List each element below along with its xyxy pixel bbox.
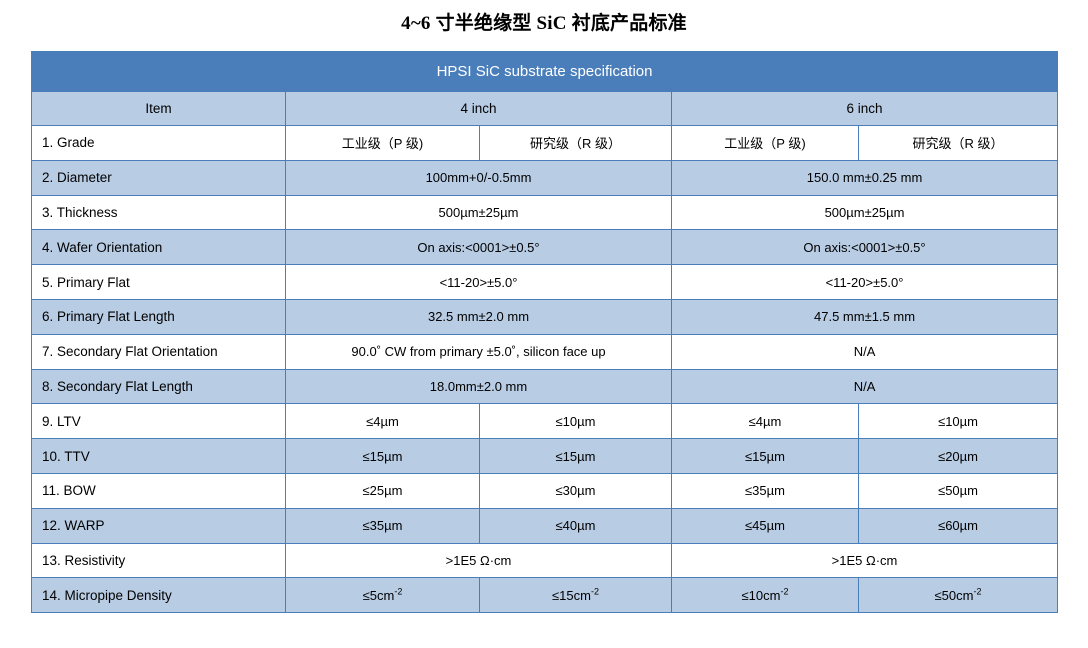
row-value-4-inch: >1E5 Ω·cm [286, 543, 672, 578]
unit-exponent: -2 [394, 586, 402, 596]
table-banner-title: HPSI SiC substrate specification [32, 52, 1058, 92]
row-value-4-inch: 32.5 mm±2.0 mm [286, 299, 672, 334]
column-header-item: Item [32, 92, 286, 126]
row-value-4-inch: 18.0mm±2.0 mm [286, 369, 672, 404]
row-value-4-inch-r-grade: ≤15cm-2 [480, 578, 672, 613]
row-value-4-inch: 500µm±25µm [286, 195, 672, 230]
table-row: 4. Wafer OrientationOn axis:<0001>±0.5°O… [32, 230, 1058, 265]
row-value-6-inch-r-grade: ≤50µm [859, 473, 1058, 508]
row-item-label: 9. LTV [32, 404, 286, 439]
row-value-4-inch-p-grade: 工业级（P 级) [286, 126, 480, 161]
row-value-4-inch-p-grade: ≤25µm [286, 473, 480, 508]
row-value-4-inch-r-grade: ≤15µm [480, 439, 672, 474]
row-value-6-inch-r-grade: ≤60µm [859, 508, 1058, 543]
table-row: 8. Secondary Flat Length18.0mm±2.0 mmN/A [32, 369, 1058, 404]
column-header-row: Item 4 inch 6 inch [32, 92, 1058, 126]
page-title: 4~6 寸半绝缘型 SiC 衬底产品标准 [0, 8, 1088, 35]
row-value-6-inch-p-grade: ≤10cm-2 [672, 578, 859, 613]
row-value-4-inch-r-grade: ≤40µm [480, 508, 672, 543]
row-item-label: 1. Grade [32, 126, 286, 161]
table-row: 12. WARP≤35µm≤40µm≤45µm≤60µm [32, 508, 1058, 543]
row-value-6-inch-r-grade: ≤10µm [859, 404, 1058, 439]
table-row: 1. Grade工业级（P 级)研究级（R 级）工业级（P 级)研究级（R 级） [32, 126, 1058, 161]
row-value-4-inch: 90.0˚ CW from primary ±5.0˚, silicon fac… [286, 334, 672, 369]
row-value-6-inch: On axis:<0001>±0.5° [672, 230, 1058, 265]
unit-exponent: -2 [780, 586, 788, 596]
row-item-label: 12. WARP [32, 508, 286, 543]
row-value-6-inch-p-grade: 工业级（P 级) [672, 126, 859, 161]
row-value-4-inch-p-grade: ≤15µm [286, 439, 480, 474]
column-header-6-inch: 6 inch [672, 92, 1058, 126]
spec-table-head: HPSI SiC substrate specification Item 4 … [32, 52, 1058, 126]
table-row: 13. Resistivity>1E5 Ω·cm>1E5 Ω·cm [32, 543, 1058, 578]
table-row: 2. Diameter100mm+0/-0.5mm150.0 mm±0.25 m… [32, 160, 1058, 195]
table-row: 7. Secondary Flat Orientation90.0˚ CW fr… [32, 334, 1058, 369]
row-value-6-inch: <11-20>±5.0° [672, 265, 1058, 300]
row-value-6-inch-p-grade: ≤4µm [672, 404, 859, 439]
row-item-label: 7. Secondary Flat Orientation [32, 334, 286, 369]
row-value-4-inch: On axis:<0001>±0.5° [286, 230, 672, 265]
row-value-4-inch-p-grade: ≤5cm-2 [286, 578, 480, 613]
row-value-4-inch-r-grade: 研究级（R 级） [480, 126, 672, 161]
table-row: 9. LTV≤4µm≤10µm≤4µm≤10µm [32, 404, 1058, 439]
table-row: 14. Micropipe Density≤5cm-2≤15cm-2≤10cm-… [32, 578, 1058, 613]
row-value-6-inch-p-grade: ≤35µm [672, 473, 859, 508]
banner-row: HPSI SiC substrate specification [32, 52, 1058, 92]
table-row: 10. TTV≤15µm≤15µm≤15µm≤20µm [32, 439, 1058, 474]
row-value-6-inch: N/A [672, 334, 1058, 369]
row-item-label: 13. Resistivity [32, 543, 286, 578]
row-value-6-inch: 500µm±25µm [672, 195, 1058, 230]
row-value-6-inch-r-grade: ≤20µm [859, 439, 1058, 474]
unit-exponent: -2 [591, 586, 599, 596]
table-row: 6. Primary Flat Length32.5 mm±2.0 mm47.5… [32, 299, 1058, 334]
row-item-label: 4. Wafer Orientation [32, 230, 286, 265]
row-item-label: 5. Primary Flat [32, 265, 286, 300]
row-item-label: 3. Thickness [32, 195, 286, 230]
row-value-4-inch: 100mm+0/-0.5mm [286, 160, 672, 195]
spec-table-body: 1. Grade工业级（P 级)研究级（R 级）工业级（P 级)研究级（R 级）… [32, 126, 1058, 613]
row-value-4-inch-p-grade: ≤4µm [286, 404, 480, 439]
row-value-6-inch-p-grade: ≤15µm [672, 439, 859, 474]
row-value-6-inch: 47.5 mm±1.5 mm [672, 299, 1058, 334]
spec-table: HPSI SiC substrate specification Item 4 … [31, 51, 1058, 613]
page-root: 4~6 寸半绝缘型 SiC 衬底产品标准 HPSI SiC substrate … [0, 0, 1088, 648]
row-item-label: 10. TTV [32, 439, 286, 474]
row-value-6-inch-p-grade: ≤45µm [672, 508, 859, 543]
unit-exponent: -2 [973, 586, 981, 596]
row-item-label: 2. Diameter [32, 160, 286, 195]
row-value-4-inch: <11-20>±5.0° [286, 265, 672, 300]
row-value-4-inch-r-grade: ≤10µm [480, 404, 672, 439]
row-value-6-inch-r-grade: ≤50cm-2 [859, 578, 1058, 613]
row-value-6-inch: 150.0 mm±0.25 mm [672, 160, 1058, 195]
row-item-label: 14. Micropipe Density [32, 578, 286, 613]
row-item-label: 6. Primary Flat Length [32, 299, 286, 334]
column-header-4-inch: 4 inch [286, 92, 672, 126]
row-value-4-inch-r-grade: ≤30µm [480, 473, 672, 508]
row-value-4-inch-p-grade: ≤35µm [286, 508, 480, 543]
row-item-label: 8. Secondary Flat Length [32, 369, 286, 404]
table-row: 3. Thickness500µm±25µm500µm±25µm [32, 195, 1058, 230]
row-item-label: 11. BOW [32, 473, 286, 508]
row-value-6-inch: >1E5 Ω·cm [672, 543, 1058, 578]
row-value-6-inch: N/A [672, 369, 1058, 404]
table-row: 5. Primary Flat<11-20>±5.0°<11-20>±5.0° [32, 265, 1058, 300]
table-row: 11. BOW≤25µm≤30µm≤35µm≤50µm [32, 473, 1058, 508]
row-value-6-inch-r-grade: 研究级（R 级） [859, 126, 1058, 161]
